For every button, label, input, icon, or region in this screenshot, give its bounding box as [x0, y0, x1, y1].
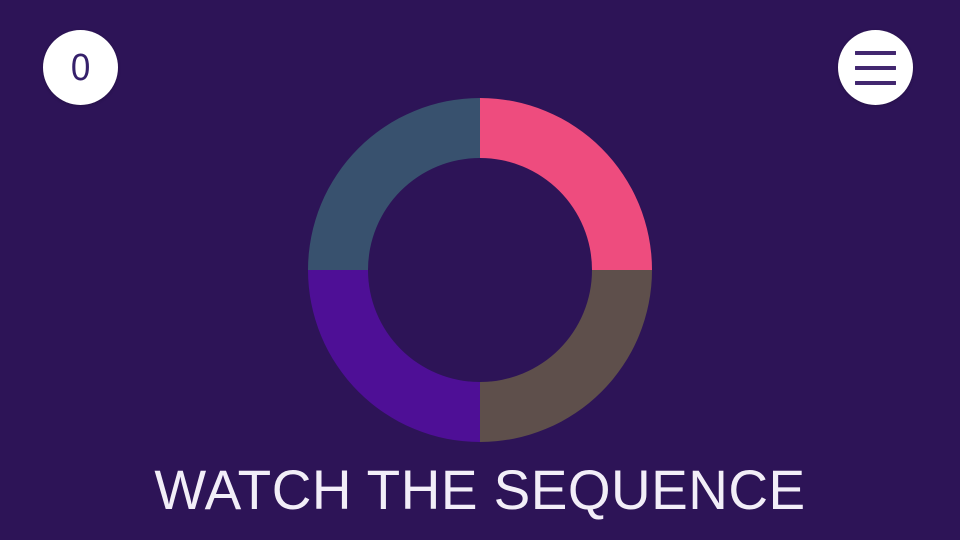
sequence-donut — [308, 98, 652, 442]
score-badge: 0 — [43, 30, 118, 105]
status-caption: WATCH THE SEQUENCE — [10, 462, 951, 518]
menu-button[interactable] — [838, 30, 913, 105]
donut-pad-top-left[interactable] — [480, 98, 652, 270]
score-value: 0 — [71, 49, 91, 87]
donut-pad-bottom-right[interactable] — [308, 270, 480, 442]
hamburger-menu-icon-bar-1 — [855, 51, 896, 55]
game-screen: 0 WATCH THE SEQUENCE — [0, 0, 960, 540]
hamburger-menu-icon-bar-3 — [855, 81, 896, 85]
hamburger-menu-icon-bar-2 — [855, 66, 896, 70]
donut-pad-top-right[interactable] — [480, 270, 652, 442]
donut-pad-bottom-left[interactable] — [308, 98, 480, 270]
